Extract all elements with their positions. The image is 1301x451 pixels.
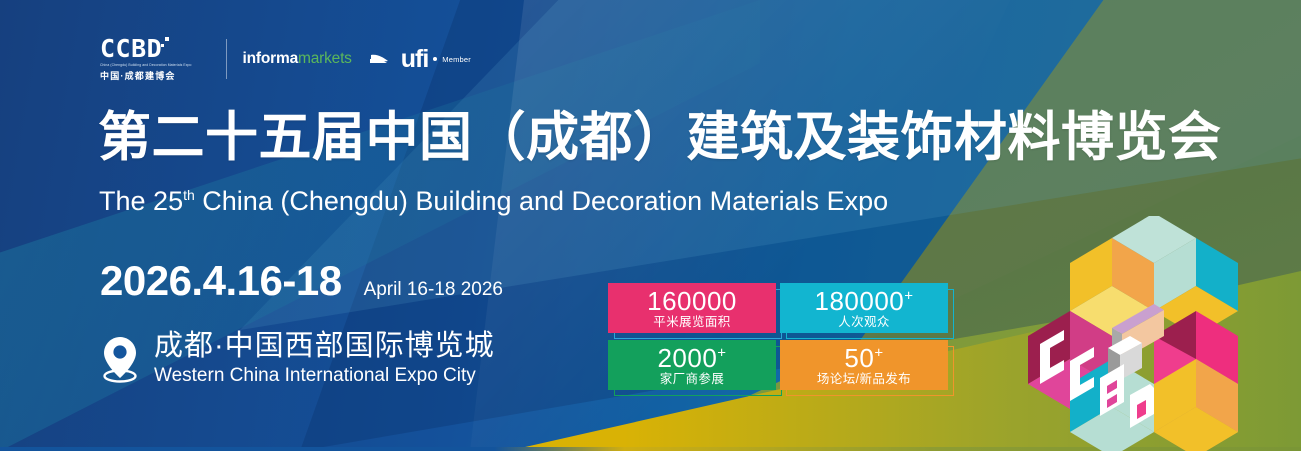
- ufi-member-label: Member: [442, 55, 471, 64]
- ccbd-wordmark-icon: CCBD: [100, 36, 162, 61]
- stat-number: 160000: [647, 288, 737, 314]
- stat-number-value: 180000: [814, 286, 904, 316]
- event-banner: CCBD China (Chengdu) Building and Decora…: [0, 0, 1301, 451]
- stat-card-area: 160000 平米展览面积: [608, 283, 776, 333]
- ufi-swoosh-icon: [370, 51, 396, 67]
- stat-label: 场论坛/新品发布: [817, 372, 911, 386]
- informa-word: informa: [243, 50, 298, 67]
- headline-en-sup: th: [183, 187, 195, 203]
- headline-en: The 25th China (Chengdu) Building and De…: [99, 178, 888, 218]
- ccbd-wordmark-text: CCBD: [100, 34, 162, 63]
- location-pin-icon: [100, 334, 140, 384]
- ccbd-logo: CCBD China (Chengdu) Building and Decora…: [100, 36, 210, 82]
- headline-cn: 第二十五届中国（成都）建筑及装饰材料博览会: [98, 108, 1222, 168]
- event-venue: 成都·中国西部国际博览城 Western China International…: [100, 330, 495, 387]
- event-date: 2026.4.16-18 April 16-18 2026: [100, 258, 503, 304]
- ccbd-subtitle-en: China (Chengdu) Building and Decoration …: [100, 63, 192, 67]
- ccbd-subtitle-cn: 中国·成都建博会: [100, 69, 176, 82]
- stat-number-value: 50: [844, 343, 874, 373]
- headline-en-num: 25: [153, 186, 183, 216]
- logo-divider: [226, 39, 227, 79]
- venue-name-cn: 成都·中国西部国际博览城: [154, 330, 495, 362]
- stat-number-plus: +: [904, 287, 913, 304]
- informa-markets-logo: informamarkets: [243, 50, 352, 68]
- headline-en-pre: The: [99, 186, 146, 216]
- stats-grid: 160000 平米展览面积 180000+ 人次观众 2000+ 家厂商参展 5…: [608, 283, 948, 390]
- stat-number: 50+: [844, 345, 883, 371]
- stat-number: 2000+: [657, 345, 726, 371]
- venue-name-en: Western China International Expo City: [154, 365, 495, 387]
- stat-label: 人次观众: [838, 315, 890, 329]
- stat-label: 平米展览面积: [653, 315, 730, 329]
- ufi-logo: ufi Member: [370, 47, 471, 72]
- venue-texts: 成都·中国西部国际博览城 Western China International…: [154, 330, 495, 387]
- markets-word: markets: [298, 50, 352, 67]
- stat-box: 2000+ 家厂商参展: [608, 340, 776, 390]
- stat-box: 160000 平米展览面积: [608, 283, 776, 333]
- ufi-wordmark: ufi: [401, 47, 429, 72]
- stat-card-exhibitors: 2000+ 家厂商参展: [608, 340, 776, 390]
- stat-card-forums: 50+ 场论坛/新品发布: [780, 340, 948, 390]
- event-date-en: April 16-18 2026: [364, 279, 503, 301]
- stat-label: 家厂商参展: [660, 372, 725, 386]
- stat-number: 180000+: [814, 288, 913, 314]
- stat-number-value: 2000: [657, 343, 717, 373]
- stat-box: 50+ 场论坛/新品发布: [780, 340, 948, 390]
- logo-bar: CCBD China (Chengdu) Building and Decora…: [100, 36, 471, 82]
- ccbd-isometric-cube-logo: [1012, 216, 1252, 451]
- stat-number-value: 160000: [647, 286, 737, 316]
- ccbd-dot2-icon: [161, 44, 164, 47]
- headline-en-post: China (Chengdu) Building and Decoration …: [202, 186, 888, 216]
- stat-number-plus: +: [717, 344, 726, 361]
- event-date-cn: 2026.4.16-18: [100, 258, 342, 304]
- ccbd-dot-icon: [165, 37, 169, 41]
- stat-card-visitors: 180000+ 人次观众: [780, 283, 948, 333]
- stat-number-plus: +: [874, 344, 883, 361]
- stat-box: 180000+ 人次观众: [780, 283, 948, 333]
- ufi-bullet-icon: [433, 57, 437, 61]
